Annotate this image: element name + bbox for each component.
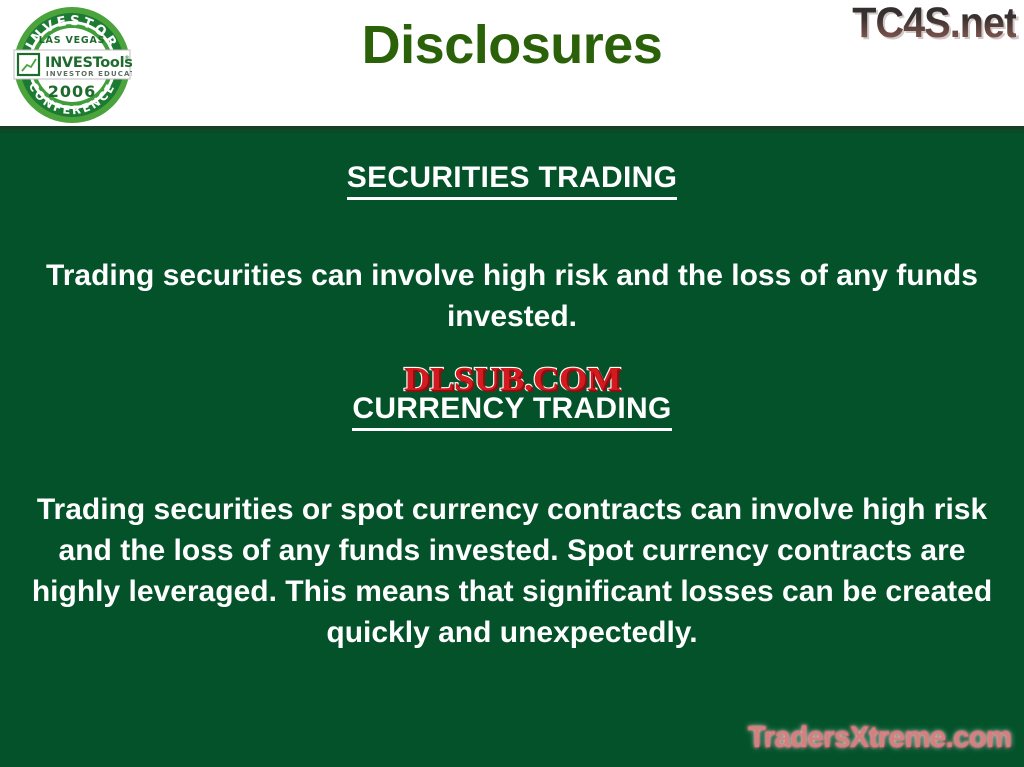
section-paragraph-currency: Trading securities or spot currency cont… xyxy=(0,489,1024,653)
slide-header: INVESTOR CONFERENCE LAS VEGAS INVESTools… xyxy=(0,0,1024,126)
section-paragraph-securities: Trading securities can involve high risk… xyxy=(0,255,1024,337)
section-heading-securities: SECURITIES TRADING xyxy=(0,161,1024,195)
slide: INVESTOR CONFERENCE LAS VEGAS INVESTools… xyxy=(0,0,1024,767)
tradersxtreme-logo: TradersXtreme.com xyxy=(749,721,1012,755)
section-heading-securities-text: SECURITIES TRADING xyxy=(347,161,677,200)
badge-year: 2006 xyxy=(48,82,97,101)
slide-body: SECURITIES TRADING Trading securities ca… xyxy=(0,133,1024,767)
tc4s-logo: TC4S.net xyxy=(852,2,1016,45)
section-heading-currency: CURRENCY TRADING xyxy=(0,392,1024,426)
section-heading-currency-text: CURRENCY TRADING xyxy=(352,392,671,431)
